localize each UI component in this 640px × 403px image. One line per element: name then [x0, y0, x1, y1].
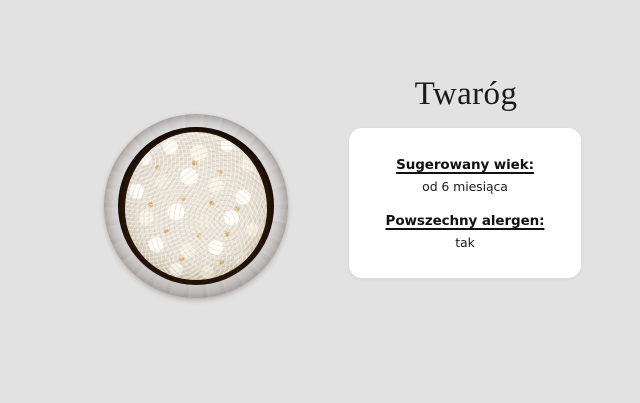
- food-info-card-infographic: Twaróg Sugerowany wiek: od 6 miesiąca Po…: [0, 0, 640, 403]
- info-row-common-allergen: Powszechny alergen: tak: [349, 213, 581, 250]
- food-photo: [0, 0, 330, 403]
- curd-pile-edge: [123, 130, 269, 282]
- info-row-suggested-age: Sugerowany wiek: od 6 miesiąca: [349, 157, 581, 194]
- suggested-age-value: od 6 miesiąca: [349, 179, 581, 194]
- bowl-interior: [118, 127, 274, 285]
- twarog-bowl-image: [104, 114, 288, 298]
- twarog-curds: [125, 132, 267, 280]
- info-card: Sugerowany wiek: od 6 miesiąca Powszechn…: [349, 128, 581, 278]
- common-allergen-value: tak: [349, 235, 581, 250]
- suggested-age-label: Sugerowany wiek:: [349, 157, 581, 173]
- page-title: Twaróg: [340, 74, 592, 114]
- common-allergen-label: Powszechny alergen:: [349, 213, 581, 229]
- wooden-bowl: [104, 114, 288, 298]
